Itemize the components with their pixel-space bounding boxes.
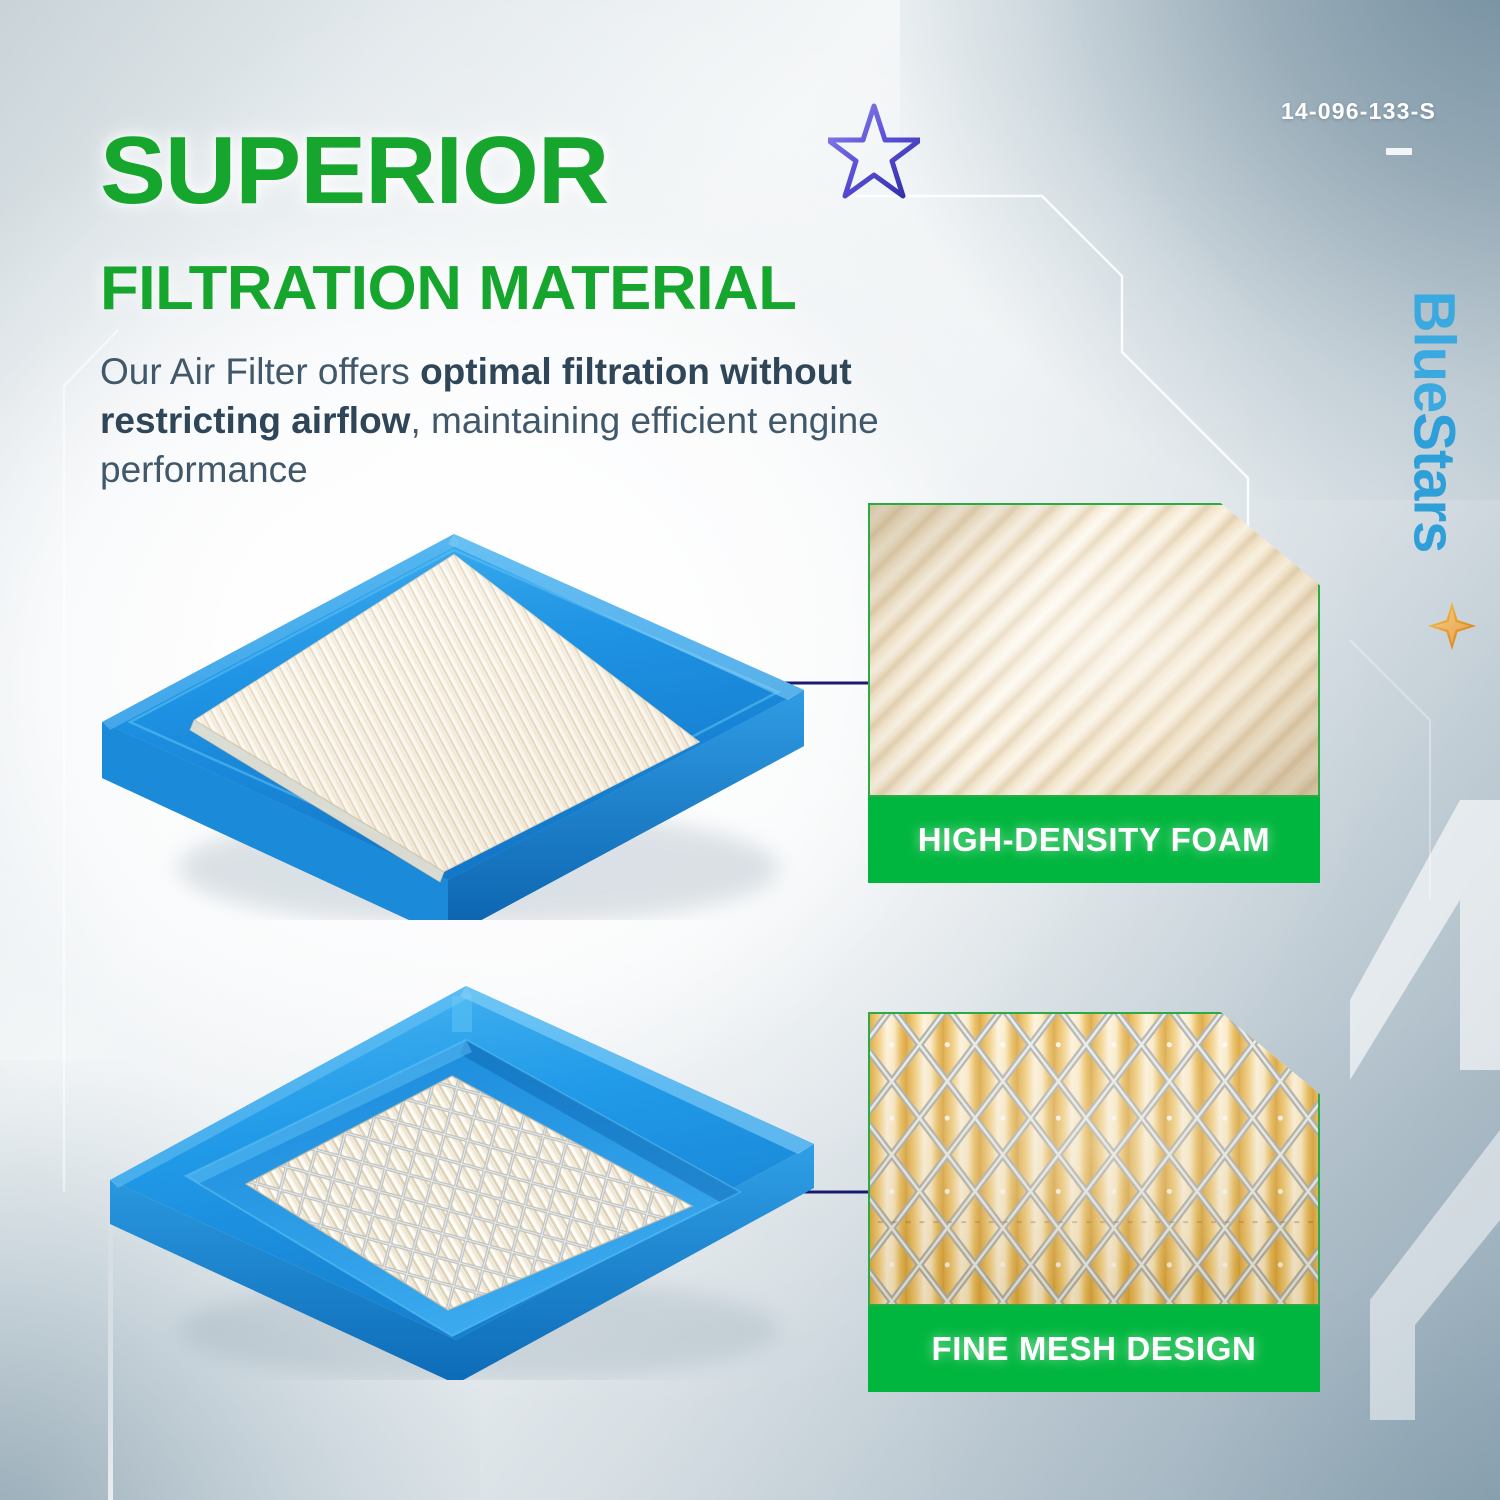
body-copy: Our Air Filter offers optimal filtration… — [100, 348, 920, 494]
body-segment-1: Our Air Filter offers — [100, 351, 420, 392]
sku-dash-divider — [1386, 148, 1412, 155]
callout-swatch-mesh — [868, 1012, 1320, 1306]
product-image-air-filter-top-view — [88, 520, 828, 920]
brand-word-blue: Blue — [1402, 291, 1467, 413]
texture-foam-shading — [870, 505, 1318, 795]
brand-word-stars: Stars — [1402, 412, 1467, 552]
product-image-air-filter-underside-view — [100, 980, 840, 1380]
page-subtitle: FILTRATION MATERIAL — [100, 258, 796, 320]
texture-mesh-shading — [870, 1014, 1318, 1304]
brand-wordmark: BlueStars — [1401, 222, 1468, 622]
callout-high-density-foam: HIGH-DENSITY FOAM — [868, 503, 1320, 883]
callout-swatch-foam — [868, 503, 1320, 797]
callout-label-mesh: FINE MESH DESIGN — [868, 1306, 1320, 1392]
callout-label-foam: HIGH-DENSITY FOAM — [868, 797, 1320, 883]
product-sku: 14-096-133-S — [1281, 98, 1436, 125]
poster-canvas: 14-096-133-S BlueStars SUPERIOR FILTRATI… — [0, 0, 1500, 1500]
callout-fine-mesh-design: FINE MESH DESIGN — [868, 1012, 1320, 1392]
brand-star-icon — [1426, 600, 1478, 652]
headline-star-accent-icon — [828, 100, 920, 204]
page-title: SUPERIOR — [100, 124, 608, 218]
brand-logo: BlueStars — [1386, 236, 1482, 636]
